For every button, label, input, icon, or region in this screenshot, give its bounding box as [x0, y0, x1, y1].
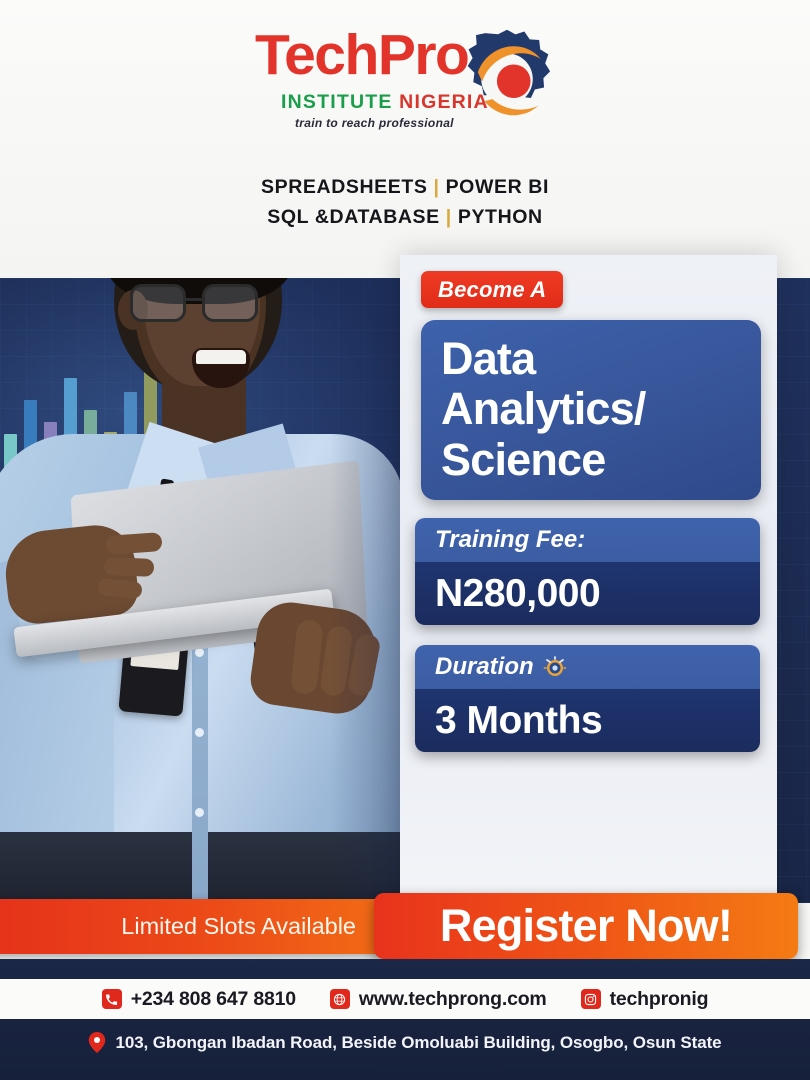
address-text: 103, Gbongan Ibadan Road, Beside Omoluab… — [115, 1033, 721, 1053]
footer-section — [0, 959, 810, 1080]
duration-value: 3 Months — [435, 699, 602, 743]
logo-tech-text: Tech — [255, 23, 378, 87]
header-section: TechPro INSTITUTE NIGERIA train to reach… — [0, 0, 810, 278]
duration-label: Duration — [435, 653, 534, 681]
instagram-handle: techpronig — [610, 988, 709, 1011]
become-a-label: Become A — [438, 277, 546, 303]
become-a-badge: Become A — [421, 271, 563, 308]
address-bar: 103, Gbongan Ibadan Road, Beside Omoluab… — [0, 1032, 810, 1053]
duration-body: 3 Months — [415, 689, 760, 752]
training-fee-body: N280,000 — [415, 562, 760, 625]
course-line-2: SQL &DATABASE|PYTHON — [0, 202, 810, 232]
alarm-gear-icon — [543, 655, 567, 679]
instagram-icon — [581, 989, 601, 1009]
course-sql-database: SQL &DATABASE — [267, 206, 439, 228]
eyeglasses-icon — [130, 284, 280, 322]
location-pin-icon — [88, 1032, 106, 1053]
register-now-label: Register Now! — [440, 900, 732, 952]
course-python: PYTHON — [458, 206, 543, 228]
course-list: SPREADSHEETS|POWER BI SQL &DATABASE|PYTH… — [0, 172, 810, 232]
contact-bar: +234 808 647 8810 www.techprong.com tech… — [0, 979, 810, 1019]
course-spreadsheets: SPREADSHEETS — [261, 176, 428, 198]
course-separator-2: | — [440, 206, 458, 228]
course-separator: | — [428, 176, 446, 198]
training-fee-header: Training Fee: — [415, 518, 760, 562]
brand-logo: TechPro INSTITUTE NIGERIA train to reach… — [0, 22, 810, 142]
phone-number: +234 808 647 8810 — [131, 988, 296, 1011]
contact-instagram[interactable]: techpronig — [581, 988, 709, 1011]
gear-icon — [451, 23, 563, 135]
limited-slots-label: Limited Slots Available — [121, 913, 356, 940]
training-fee-value: N280,000 — [435, 572, 600, 616]
course-powerbi: POWER BI — [446, 176, 549, 198]
duration-header: Duration — [415, 645, 760, 689]
phone-icon — [102, 989, 122, 1009]
training-fee-label: Training Fee: — [435, 526, 585, 554]
register-now-button[interactable]: Register Now! — [374, 893, 798, 959]
globe-icon — [330, 989, 350, 1009]
contact-website[interactable]: www.techprong.com — [330, 988, 547, 1011]
contact-phone[interactable]: +234 808 647 8810 — [102, 988, 296, 1011]
website-url: www.techprong.com — [359, 988, 547, 1011]
program-title: Data Analytics/ Science — [441, 334, 741, 485]
training-fee-card: Training Fee: N280,000 — [415, 518, 760, 625]
flyer-poster: TechPro INSTITUTE NIGERIA train to reach… — [0, 0, 810, 1080]
duration-card: Duration 3 Months — [415, 645, 760, 752]
program-title-card: Data Analytics/ Science — [421, 320, 761, 500]
limited-slots-banner: Limited Slots Available — [0, 899, 388, 954]
logo-tagline: train to reach professional — [295, 116, 454, 130]
course-line-1: SPREADSHEETS|POWER BI — [0, 172, 810, 202]
